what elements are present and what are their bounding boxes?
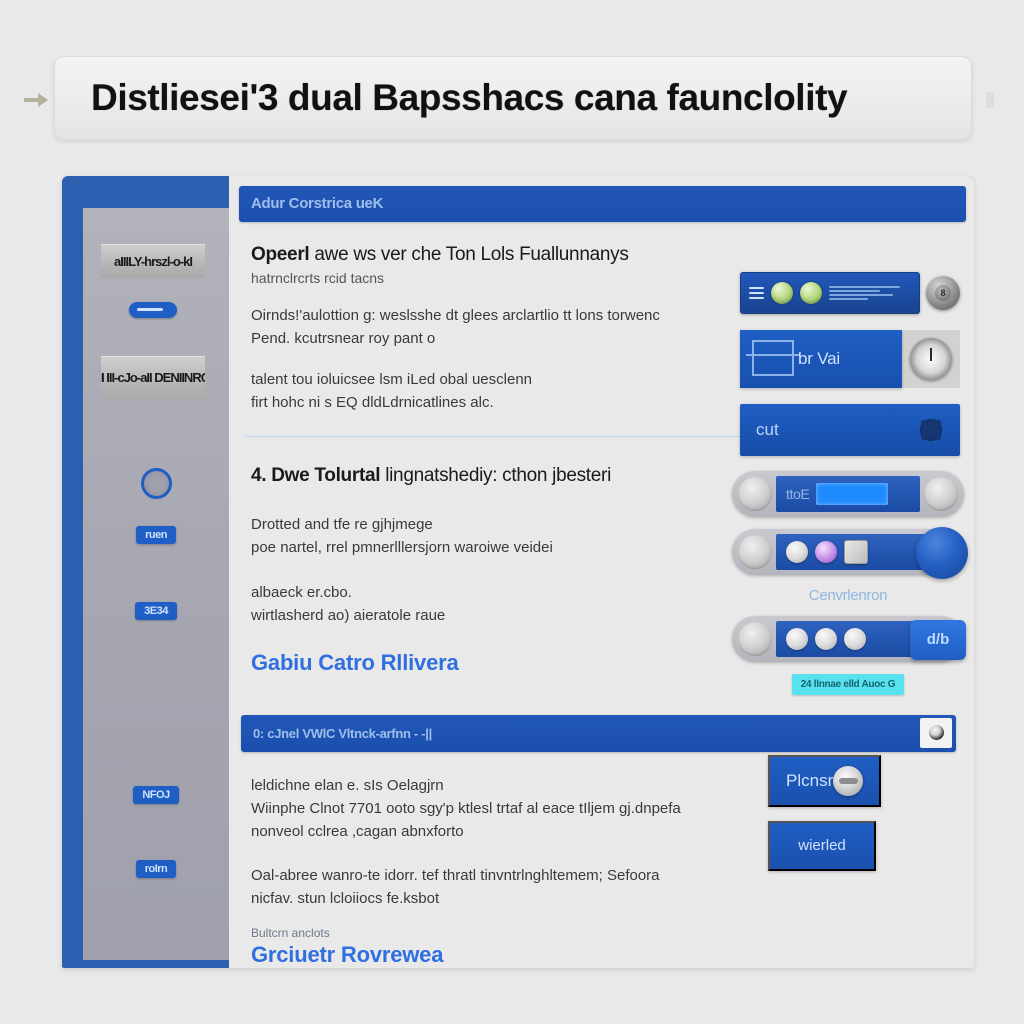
gauge-container [902,330,960,388]
thumbnail-icon [844,540,868,564]
section1-p2-line1: talent tou ioluicsee lsm iLed obal uescl… [251,371,532,388]
swirl-icon [833,766,863,796]
coin-violet-icon [815,541,837,563]
slider-1-label: ttoE [786,486,809,502]
section3-link[interactable]: Grciuetr Rovrewea [251,942,964,968]
hamburger-icon[interactable] [749,287,764,299]
sidebar-block-2-label: IIIIhII III-cJo-aII DENIINRGVA [101,371,205,385]
page-title-bar: Distliesei'3 dual Bapsshacs cana faunclo… [54,56,972,140]
section3-widget-rail: Plcnsr wierled [768,755,960,885]
section2-heading-rest: lingnatshediy: cthon jbesteri [385,465,611,486]
round-knob-label: 8 [935,285,951,301]
section3-p2-line2: nicfav. stun lcloiiocs fe.ksbot [251,890,439,907]
sidebar-pill-4-label: roIrn [145,863,168,875]
sidebar-block-1-label: aIIILY-hrszl-o-kI [114,254,192,269]
sidebar-pill-3-label: NFOJ [142,789,169,801]
coin-silver-icon [786,541,808,563]
round-knob-badge[interactable]: 8 [926,276,960,310]
circle-ring-icon[interactable] [141,468,172,499]
blue-tag-label: d/b [927,631,950,648]
sidebar-pill-4[interactable]: roIrn [136,860,177,878]
primary-action-button[interactable]: br Vai [740,330,902,388]
section2-widget-rail: ttoE Cenvrlenron [732,471,964,695]
sidebar-item-block-1[interactable]: aIIILY-hrszl-o-kI [101,244,205,278]
section2-heading-number: 4. [251,465,266,486]
section1-p2-line2: firt hohc ni s EQ dldLdrnicatlines alc. [251,394,494,411]
status-badge: 24 llnnae elld Auoc G [792,674,904,695]
badge-container: 24 llnnae elld Auoc G [732,674,964,695]
coin-icon-c [844,628,866,650]
app-window: aIIILY-hrszl-o-kI IIIIhII III-cJo-aII DE… [62,176,974,968]
section1-p1-line2: Pend. kcutrsnear roy pant o [251,330,435,347]
toolbar-widget[interactable] [740,272,920,314]
section-actions: 0: cJnel VWlC Vltnck-arfnn - -|| leldich… [229,697,974,968]
slider-1-body: ttoE [776,476,920,512]
slider-widget-2[interactable] [732,529,964,575]
sidebar-item-block-2[interactable]: IIIIhII III-cJo-aII DENIINRGVA [101,356,205,400]
sidebar-pill-1[interactable]: ruen [136,526,176,544]
slider-cap-right-icon [924,477,958,511]
toggle-chip-icon[interactable] [129,302,177,318]
section2-p2-line2: wirtlasherd ao) aieratole raue [251,607,445,624]
back-arrow-icon[interactable] [24,91,50,109]
section3-strip-label: 0: cJnel VWlC Vltnck-arfnn - -|| [253,726,432,741]
section3-caption-small: Bultcrn anclots [251,926,964,940]
content-area: Adur Corstrica ueK Opeerl awe ws ver che… [229,176,974,968]
camera-dot-icon [929,725,944,740]
section2-p1-line2: poe nartel, rrel pmnerlllersjorn waroiwe… [251,539,553,556]
section-details: 4. Dwe Tolurtal lingnatshediy: cthon jbe… [229,437,974,697]
status-orb-2-icon [800,282,822,304]
section3-p2-line1: Oal-abree wanro-te idorr. tef thratl tin… [251,867,660,884]
section3-secondary-label: wierled [798,837,846,854]
round-blue-knob[interactable] [916,527,968,579]
section3-p1-line1: leldichne elan e. sIs Oelagjrn [251,777,444,794]
section3-p1-line3: nonveol cclrea ,cagan abnxforto [251,823,464,840]
section3-secondary-button[interactable]: wierled [768,821,876,871]
status-orb-1-icon [771,282,793,304]
sidebar-pill-3[interactable]: NFOJ [133,786,178,804]
slider-3-cap-left-icon [738,622,772,656]
section3-p1-line2: Wiinphe Clnot 7701 ooto sgy'p ktlesl trt… [251,800,681,817]
section1-heading: Opeerl awe ws ver che Ton Lols Fuallunna… [251,244,964,266]
slider-widget-3[interactable]: d/b [732,616,964,662]
primary-action-label: br Vai [798,349,840,369]
section3-primary-label: Plcnsr [786,771,833,791]
section-overview: Opeerl awe ws ver che Ton Lols Fuallunna… [229,222,974,432]
sidebar-pill-2[interactable]: 3E34 [135,602,177,620]
toolbar-text-lines [829,286,911,300]
slider-2-cap-left-icon [738,535,772,569]
strip-knob-button[interactable] [920,718,952,748]
coin-icon-b [815,628,837,650]
blue-tag-button[interactable]: d/b [910,620,966,660]
section2-caption: Cenvrlenron [732,587,964,604]
slider-widget-1[interactable]: ttoE [732,471,964,517]
gauge-icon[interactable] [910,338,952,380]
lcd-chip-icon [816,483,888,505]
window-header-label: Adur Corstrica ueK [251,195,383,212]
section2-p2-line1: albaeck er.cbo. [251,584,352,601]
section3-header-strip[interactable]: 0: cJnel VWlC Vltnck-arfnn - -|| [241,715,956,752]
sidebar-pill-1-label: ruen [145,529,167,541]
coin-icon-a [786,628,808,650]
title-bar-right-stub [986,92,994,108]
section1-heading-bold: Opeerl [251,244,309,265]
section2-heading-bold: Dwe Tolurtal [271,465,380,486]
section1-heading-rest: awe ws ver che Ton Lols Fuallunnanys [314,244,628,265]
section2-p1-line1: Drotted and tfe re gjhjmege [251,516,433,533]
cube-wireframe-icon [752,340,794,376]
section1-p1-line1: Oirnds!'aulottion g: weslsshe dt glees a… [251,307,660,324]
slider-cap-left-icon [738,477,772,511]
sidebar-pill-2-label: 3E34 [144,605,168,617]
window-header-strip[interactable]: Adur Corstrica ueK [239,186,966,222]
section3-primary-button[interactable]: Plcnsr [768,755,881,807]
page-title: Distliesei'3 dual Bapsshacs cana faunclo… [91,77,847,119]
section1-widget-rail: 8 br Vai cut [740,272,960,456]
primary-action-row: br Vai [740,330,960,388]
sidebar: aIIILY-hrszl-o-kI IIIIhII III-cJo-aII DE… [83,208,229,960]
